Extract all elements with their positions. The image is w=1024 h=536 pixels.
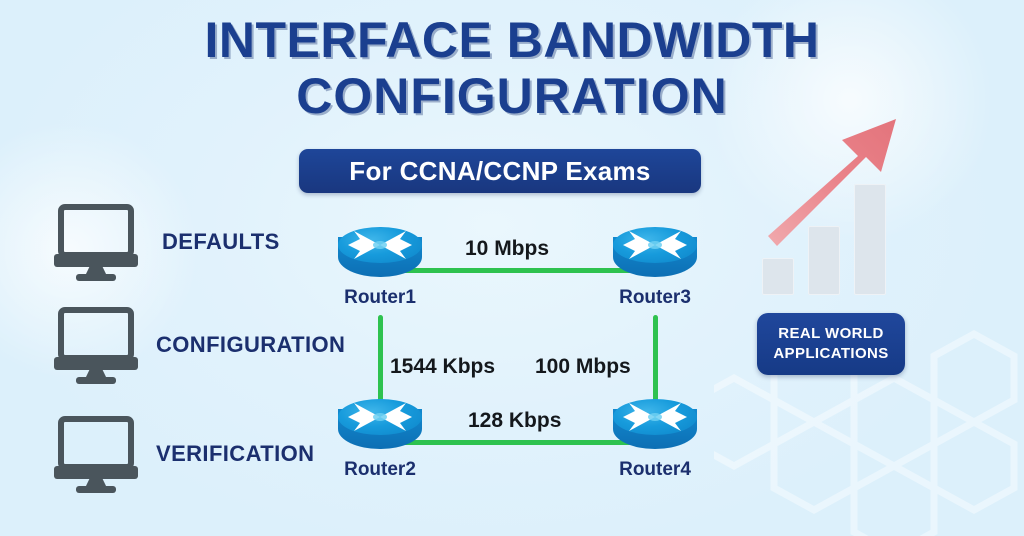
step-item-verification: VERIFICATION bbox=[52, 408, 314, 500]
chart-bar-2 bbox=[808, 226, 840, 295]
router-label-router4: Router4 bbox=[593, 459, 717, 481]
router-arrows-icon bbox=[613, 399, 697, 435]
step-label-verification: VERIFICATION bbox=[156, 441, 314, 467]
badge-line-2: APPLICATIONS bbox=[773, 344, 888, 364]
steps-list: DEFAULTS CONFIGURATION VERIFICATION bbox=[52, 196, 352, 502]
step-item-configuration: CONFIGURATION bbox=[52, 299, 345, 391]
monitor-icon bbox=[52, 202, 144, 282]
chart-bar-3 bbox=[854, 184, 886, 295]
router-label-router1: Router1 bbox=[318, 287, 442, 309]
link-label-1544kbps: 1544 Kbps bbox=[390, 355, 495, 379]
router-arrows-icon bbox=[338, 399, 422, 435]
subtitle-banner: For CCNA/CCNP Exams bbox=[299, 149, 701, 193]
growth-chart: REAL WORLD APPLICATIONS bbox=[750, 100, 930, 390]
link-label-128kbps: 128 Kbps bbox=[468, 409, 561, 433]
router-arrows-icon bbox=[613, 227, 697, 263]
real-world-applications-badge: REAL WORLD APPLICATIONS bbox=[757, 313, 905, 375]
monitor-icon bbox=[52, 414, 144, 494]
step-label-defaults: DEFAULTS bbox=[162, 229, 280, 255]
router-node-router1[interactable]: Router1 bbox=[338, 227, 422, 289]
link-label-10mbps: 10 Mbps bbox=[465, 237, 549, 261]
monitor-icon bbox=[52, 305, 144, 385]
network-topology-diagram: Router1 Router3 bbox=[320, 215, 720, 515]
step-label-configuration: CONFIGURATION bbox=[156, 332, 345, 358]
router-node-router4[interactable]: Router4 bbox=[613, 399, 697, 461]
infographic-canvas: INTERFACE BANDWIDTH CONFIGURATION For CC… bbox=[0, 0, 1024, 536]
chart-bar-1 bbox=[762, 258, 794, 295]
router-node-router2[interactable]: Router2 bbox=[338, 399, 422, 461]
link-label-100mbps: 100 Mbps bbox=[535, 355, 631, 379]
router-label-router2: Router2 bbox=[318, 459, 442, 481]
badge-line-1: REAL WORLD bbox=[778, 324, 883, 344]
router-arrows-icon bbox=[338, 227, 422, 263]
router-node-router3[interactable]: Router3 bbox=[613, 227, 697, 289]
router-label-router3: Router3 bbox=[593, 287, 717, 309]
subtitle-text: For CCNA/CCNP Exams bbox=[349, 156, 650, 187]
step-item-defaults: DEFAULTS bbox=[52, 196, 280, 288]
title-line-1: INTERFACE BANDWIDTH bbox=[0, 12, 1024, 68]
